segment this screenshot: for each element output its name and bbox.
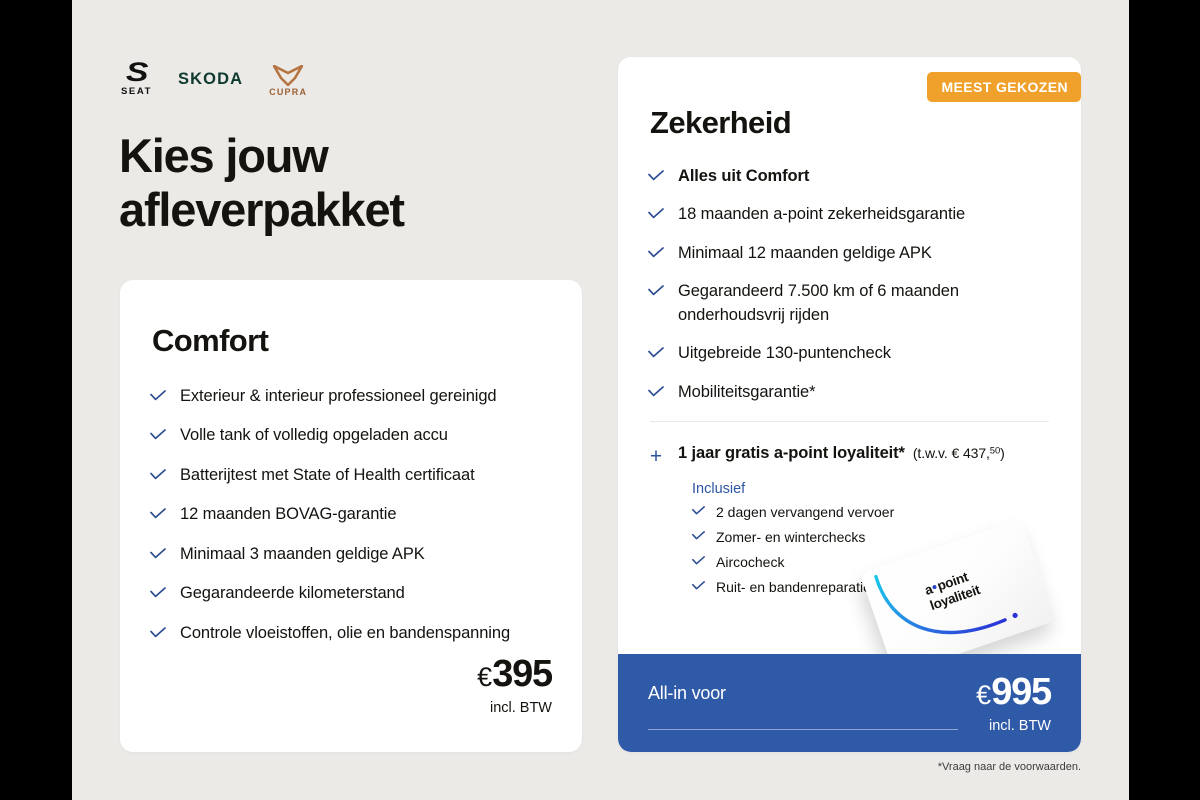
addon-value-prefix: (t.w.v. € 437, xyxy=(913,445,990,461)
feature-item: Gegarandeerde kilometerstand xyxy=(150,582,546,605)
check-icon xyxy=(648,347,664,358)
package-card-comfort[interactable]: Comfort Exterieur & interieur profession… xyxy=(120,280,582,752)
status-badge: MEEST GEKOZEN xyxy=(927,72,1081,102)
currency-symbol: € xyxy=(976,680,991,710)
check-icon xyxy=(150,390,166,401)
feature-item: Gegarandeerd 7.500 km of 6 maanden onder… xyxy=(648,280,1051,327)
check-icon xyxy=(150,548,166,559)
cupra-mark-icon xyxy=(273,65,303,86)
check-icon xyxy=(150,469,166,480)
comfort-price-note: incl. BTW xyxy=(477,700,552,716)
feature-item: Mobiliteitsgarantie* xyxy=(648,381,1051,404)
list-item-label: Aircocheck xyxy=(716,553,784,572)
feature-label: Minimaal 3 maanden geldige APK xyxy=(180,543,425,566)
check-icon xyxy=(150,587,166,598)
feature-item: Uitgebreide 130-puntencheck xyxy=(648,342,1051,365)
zekerheid-body: MEEST GEKOZEN Zekerheid Alles uit Comfor… xyxy=(618,57,1081,597)
seat-logo: S SEAT xyxy=(121,61,152,97)
feature-item: Exterieur & interieur professioneel gere… xyxy=(150,385,546,408)
cupra-logo: CUPRA xyxy=(269,65,307,97)
feature-item: Controle vloeistoffen, olie en bandenspa… xyxy=(150,622,546,645)
zekerheid-price-note: incl. BTW xyxy=(976,718,1051,734)
feature-item: Minimaal 3 maanden geldige APK xyxy=(150,543,546,566)
zekerheid-price-footer: All-in voor €995 incl. BTW xyxy=(618,654,1081,752)
plus-icon: + xyxy=(648,446,664,467)
addon-text-wrap: 1 jaar gratis a-point loyaliteit*(t.w.v.… xyxy=(678,444,1005,463)
seat-wordmark: SEAT xyxy=(121,86,152,97)
check-icon xyxy=(150,508,166,519)
check-icon xyxy=(692,556,705,565)
check-icon xyxy=(692,506,705,515)
comfort-feature-list: Exterieur & interieur professioneel gere… xyxy=(150,385,546,645)
feature-label: Alles uit Comfort xyxy=(678,165,809,188)
feature-item: Volle tank of volledig opgeladen accu xyxy=(150,424,546,447)
seat-mark-icon: S xyxy=(126,61,147,84)
feature-label: 18 maanden a-point zekerheidsgarantie xyxy=(678,203,965,226)
addon-value-suffix: ) xyxy=(1000,445,1005,461)
inclusief-label: Inclusief xyxy=(692,481,1051,497)
addon-title: 1 jaar gratis a-point loyaliteit* xyxy=(678,444,905,462)
feature-item: Batterijtest met State of Health certifi… xyxy=(150,464,546,487)
zekerheid-price-block: €995 incl. BTW xyxy=(976,673,1051,734)
feature-label: Batterijtest met State of Health certifi… xyxy=(180,464,475,487)
zekerheid-feature-list: Alles uit Comfort 18 maanden a-point zek… xyxy=(648,165,1051,404)
check-icon xyxy=(648,247,664,258)
page-canvas: S SEAT SKODA CUPRA Kies jouw afleverpakk… xyxy=(72,0,1129,800)
list-item: 2 dagen vervangend vervoer xyxy=(692,503,1051,522)
feature-label: Mobiliteitsgarantie* xyxy=(678,381,815,404)
section-divider xyxy=(650,421,1049,422)
feature-label: Uitgebreide 130-puntencheck xyxy=(678,342,891,365)
list-item-label: Ruit- en bandenreparatie xyxy=(716,578,871,597)
footer-price-label: All-in voor xyxy=(648,683,726,704)
page-title: Kies jouw afleverpakket xyxy=(119,129,549,236)
feature-label: Gegarandeerde kilometerstand xyxy=(180,582,405,605)
price-value: 395 xyxy=(492,653,552,695)
feature-item: 18 maanden a-point zekerheidsgarantie xyxy=(648,203,1051,226)
check-icon xyxy=(648,285,664,296)
comfort-price: €395 xyxy=(477,655,552,693)
currency-symbol: € xyxy=(477,662,492,692)
feature-label: Controle vloeistoffen, olie en bandenspa… xyxy=(180,622,510,645)
comfort-title: Comfort xyxy=(152,323,546,359)
comfort-price-block: €395 incl. BTW xyxy=(477,655,552,716)
check-icon xyxy=(150,627,166,638)
check-icon xyxy=(692,531,705,540)
feature-item: 12 maanden BOVAG-garantie xyxy=(150,503,546,526)
check-icon xyxy=(648,170,664,181)
feature-label: Minimaal 12 maanden geldige APK xyxy=(678,242,932,265)
addon-value: (t.w.v. € 437,50) xyxy=(913,445,1005,461)
list-item-label: 2 dagen vervangend vervoer xyxy=(716,503,894,522)
footer-divider xyxy=(648,729,958,730)
feature-label: 12 maanden BOVAG-garantie xyxy=(180,503,396,526)
footnote: *Vraag naar de voorwaarden. xyxy=(938,761,1081,773)
addon-value-cents: 50 xyxy=(990,446,1000,457)
check-icon xyxy=(150,429,166,440)
zekerheid-title: Zekerheid xyxy=(650,105,1051,141)
feature-item: Minimaal 12 maanden geldige APK xyxy=(648,242,1051,265)
feature-label: Volle tank of volledig opgeladen accu xyxy=(180,424,448,447)
list-item-label: Zomer- en winterchecks xyxy=(716,528,865,547)
check-icon xyxy=(648,208,664,219)
zekerheid-price: €995 xyxy=(976,673,1051,711)
check-icon xyxy=(648,386,664,397)
feature-item: Alles uit Comfort xyxy=(648,165,1051,188)
feature-label: Gegarandeerd 7.500 km of 6 maanden onder… xyxy=(678,280,1051,327)
feature-label: Exterieur & interieur professioneel gere… xyxy=(180,385,497,408)
package-card-zekerheid[interactable]: MEEST GEKOZEN Zekerheid Alles uit Comfor… xyxy=(618,57,1081,752)
price-value: 995 xyxy=(991,671,1051,713)
check-icon xyxy=(692,581,705,590)
brand-logo-row: S SEAT SKODA CUPRA xyxy=(121,55,307,97)
screenshot-stage: S SEAT SKODA CUPRA Kies jouw afleverpakk… xyxy=(0,0,1200,800)
addon-row: + 1 jaar gratis a-point loyaliteit*(t.w.… xyxy=(648,444,1051,467)
skoda-logo: SKODA xyxy=(178,70,243,97)
cupra-wordmark: CUPRA xyxy=(269,87,307,97)
